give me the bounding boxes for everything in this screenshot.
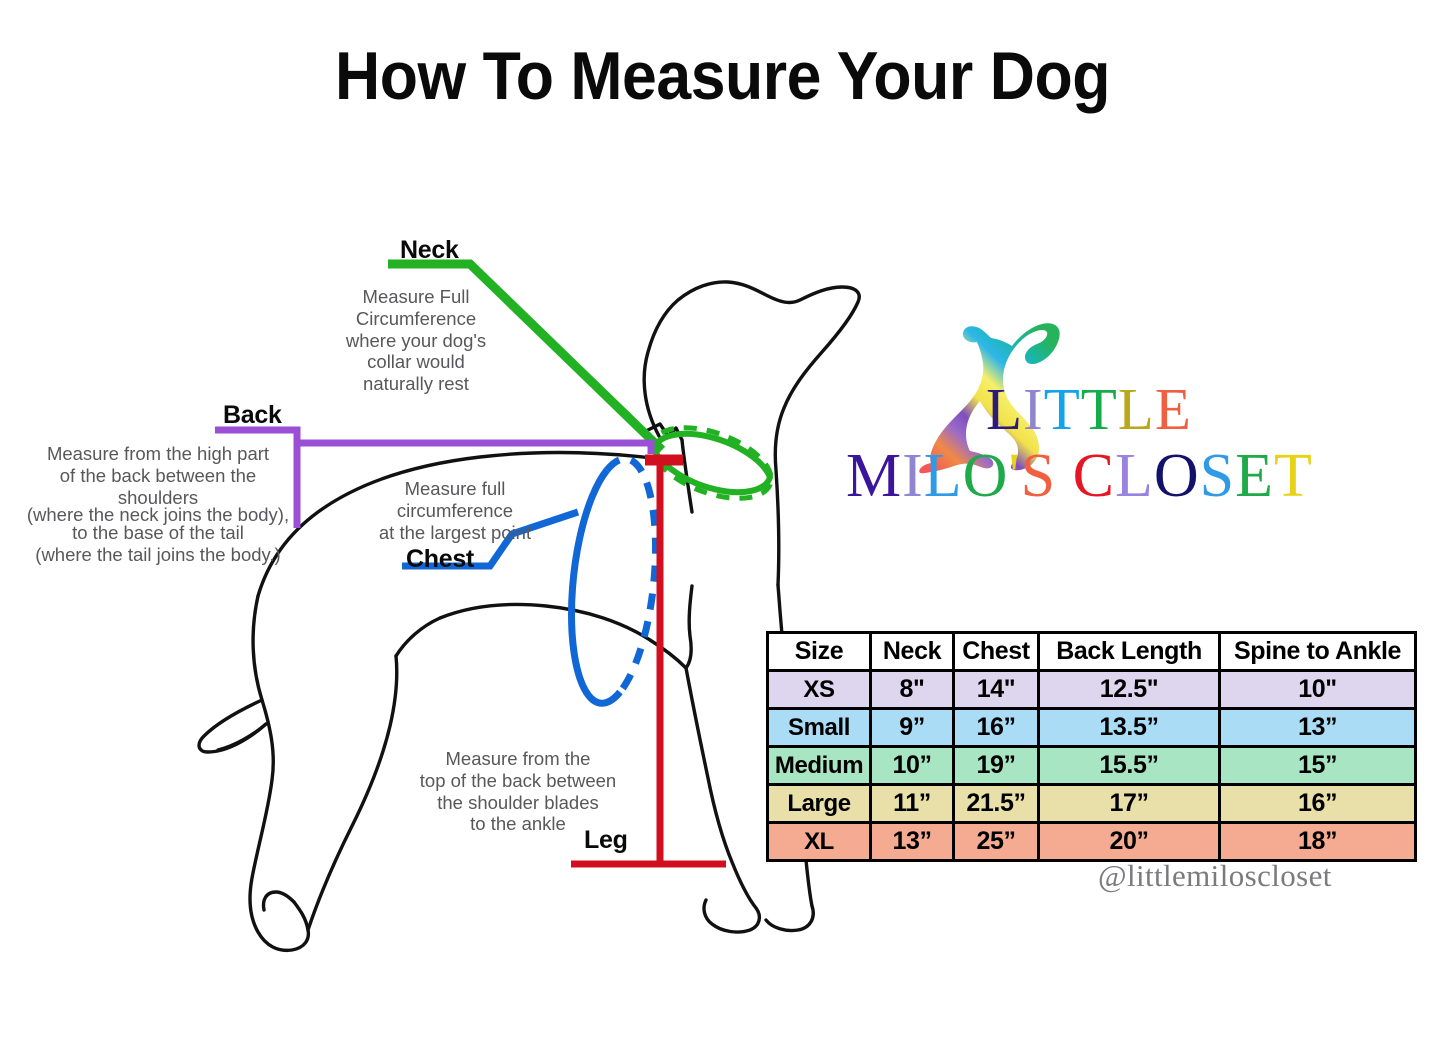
logo-letter: [1056, 442, 1073, 510]
logo-letter: L: [1118, 376, 1155, 442]
table-row: XS8"14"12.5"10": [768, 671, 1416, 709]
size-chart: Size Neck Chest Back Length Spine to Ank…: [766, 631, 1414, 862]
table-cell: Medium: [768, 747, 871, 785]
table-cell: XL: [768, 823, 871, 861]
logo-letter: L: [1115, 442, 1154, 510]
logo-letter: E: [1155, 376, 1192, 442]
logo-letter: ': [1008, 442, 1020, 510]
logo-letter: T: [1274, 442, 1313, 510]
chest-ellipse-solid: [571, 470, 620, 703]
table-header-row: Size Neck Chest Back Length Spine to Ank…: [768, 633, 1416, 671]
table-cell: 13”: [1220, 709, 1416, 747]
table-cell: 16”: [1220, 785, 1416, 823]
table-row: Large11”21.5”17”16”: [768, 785, 1416, 823]
neck-ellipse-solid: [654, 434, 770, 492]
table-cell: 10": [1220, 671, 1416, 709]
infographic-canvas: How To Measure Your Dog: [0, 0, 1445, 1051]
table-cell: 9”: [871, 709, 954, 747]
logo-letter: O: [963, 442, 1009, 510]
table-cell: 17”: [1039, 785, 1220, 823]
table-cell: 15.5”: [1039, 747, 1220, 785]
logo-letter: C: [1073, 442, 1115, 510]
table-cell: 21.5”: [954, 785, 1039, 823]
table-row: Small9”16”13.5”13”: [768, 709, 1416, 747]
logo-letter: E: [1235, 442, 1274, 510]
logo-text-milos-closet: MILO'S CLOSET: [846, 441, 1313, 512]
chest-description: Measure full circumference at the larges…: [355, 478, 555, 543]
table-cell: 13.5”: [1039, 709, 1220, 747]
table-cell: 16”: [954, 709, 1039, 747]
chest-label: Chest: [406, 545, 474, 574]
neck-ellipse-dashed: [643, 414, 780, 513]
col-header-chest: Chest: [954, 633, 1039, 671]
col-header-size: Size: [768, 633, 871, 671]
table-cell: 14": [954, 671, 1039, 709]
table-cell: 10”: [871, 747, 954, 785]
table-cell: Small: [768, 709, 871, 747]
logo-letter: I: [1023, 376, 1044, 442]
chest-ellipse-dashed: [607, 459, 656, 692]
col-header-back: Back Length: [1039, 633, 1220, 671]
logo-text-little: LITTLE: [986, 375, 1192, 444]
back-label: Back: [223, 401, 282, 430]
logo-letter: T: [1081, 376, 1118, 442]
table-cell: 20”: [1039, 823, 1220, 861]
table-cell: 19”: [954, 747, 1039, 785]
table-cell: 11”: [871, 785, 954, 823]
logo-letter: T: [1044, 376, 1081, 442]
table-cell: 13”: [871, 823, 954, 861]
table-cell: XS: [768, 671, 871, 709]
table-cell: Large: [768, 785, 871, 823]
table-row: Medium10”19”15.5”15”: [768, 747, 1416, 785]
neck-description: Measure Full Circumference where your do…: [322, 286, 510, 395]
table-cell: 8": [871, 671, 954, 709]
logo-letter: S: [1021, 442, 1056, 510]
brand-logo: LITTLE MILO'S CLOSET: [838, 318, 1358, 528]
neck-label: Neck: [400, 236, 459, 265]
table-cell: 12.5": [1039, 671, 1220, 709]
table-row: XL13”25”20”18”: [768, 823, 1416, 861]
col-header-spine: Spine to Ankle: [1220, 633, 1416, 671]
logo-letter: M: [846, 442, 902, 510]
logo-letter: O: [1154, 442, 1200, 510]
logo-letter: L: [924, 442, 963, 510]
table-cell: 18”: [1220, 823, 1416, 861]
instagram-handle: @littlemiloscloset: [1098, 858, 1332, 894]
dog-outline: [199, 282, 859, 950]
page-title: How To Measure Your Dog: [58, 42, 1387, 110]
table-cell: 15”: [1220, 747, 1416, 785]
size-chart-table: Size Neck Chest Back Length Spine to Ank…: [766, 631, 1417, 862]
logo-letter: L: [986, 376, 1023, 442]
table-cell: 25”: [954, 823, 1039, 861]
back-description-part1: Measure from the high part of the back b…: [22, 443, 294, 508]
leg-description: Measure from the top of the back between…: [398, 748, 638, 835]
back-description-part4: (where the tail joins the body.): [22, 544, 294, 566]
logo-letter: I: [902, 442, 924, 510]
logo-letter: S: [1200, 442, 1235, 510]
back-description-part3: to the base of the tail: [22, 522, 294, 544]
leg-label: Leg: [584, 826, 628, 855]
col-header-neck: Neck: [871, 633, 954, 671]
